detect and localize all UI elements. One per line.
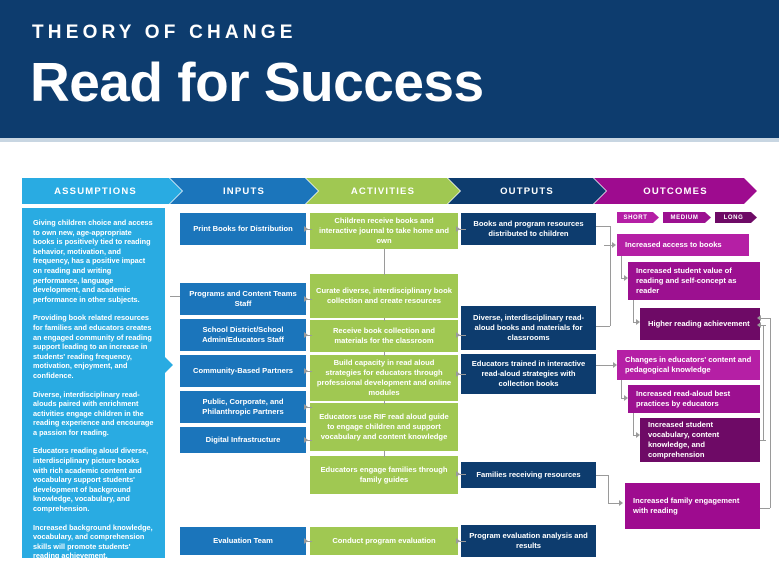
connector-arrow-icon: [624, 395, 628, 401]
output-label: Program evaluation analysis and results: [467, 531, 590, 551]
connector-line: [384, 318, 385, 321]
column-header-label: INPUTS: [223, 186, 265, 197]
page-title: Read for Success: [30, 52, 484, 112]
connector-line: [763, 325, 764, 440]
connector-line: [170, 296, 180, 297]
assumptions-arrow-icon: [160, 352, 173, 378]
output-box: Program evaluation analysis and results: [461, 525, 596, 557]
connector-arrow-icon: [304, 332, 308, 338]
outcome-box: Increased read-aloud best practices by e…: [628, 385, 760, 413]
outcome-tag-label: LONG: [724, 215, 744, 221]
outcome-tag-medium: MEDIUM: [663, 212, 711, 223]
outcome-box: Increased student vocabulary, content kn…: [640, 418, 760, 462]
connector-arrow-icon: [636, 432, 640, 438]
outcome-label: Increased student value of reading and s…: [636, 266, 754, 297]
input-box: Digital Infrastructure: [180, 427, 306, 453]
activity-label: Educators engage families through family…: [316, 465, 452, 485]
connector-arrow-icon: [619, 500, 623, 506]
input-box: Public, Corporate, and Philanthropic Par…: [180, 391, 306, 423]
connector-arrow-icon: [612, 242, 616, 248]
input-box: School District/School Admin/Educators S…: [180, 319, 306, 351]
output-box: Diverse, interdisciplinary read-aloud bo…: [461, 306, 596, 350]
connector-line: [621, 256, 622, 278]
outcome-box: Higher reading achievement: [640, 308, 760, 340]
connector-line: [760, 440, 766, 441]
input-box: Programs and Content Teams Staff: [180, 283, 306, 315]
activity-box: Educators engage families through family…: [310, 456, 458, 494]
column-header-label: ASSUMPTIONS: [54, 186, 137, 197]
input-box: Community-Based Partners: [180, 355, 306, 387]
connector-arrow-icon: [757, 322, 761, 328]
connector-line: [596, 326, 610, 327]
output-label: Families receiving resources: [476, 470, 580, 480]
column-header-assumptions: ASSUMPTIONS: [22, 178, 182, 204]
outcome-tag-label: SHORT: [624, 215, 648, 221]
activity-box: Receive book collection and materials fo…: [310, 320, 458, 352]
connector-arrow-icon: [304, 538, 308, 544]
connector-arrow-icon: [304, 296, 308, 302]
connector-line: [760, 508, 770, 509]
banner-eyebrow: THEORY OF CHANGE: [32, 22, 297, 44]
connector-line: [596, 475, 608, 476]
connector-arrow-icon: [456, 371, 460, 377]
connector-line: [633, 300, 634, 322]
connector-line: [596, 365, 614, 366]
connector-arrow-icon: [624, 275, 628, 281]
assumptions-panel: Giving children choice and access to own…: [22, 208, 165, 558]
connector-line: [384, 249, 385, 275]
input-label: Digital Infrastructure: [206, 435, 281, 445]
connector-line: [384, 451, 385, 457]
connector-arrow-icon: [613, 362, 617, 368]
input-label: Programs and Content Teams Staff: [186, 289, 300, 309]
outcome-box: Changes in educators' content and pedago…: [617, 350, 760, 380]
connector-arrow-icon: [304, 368, 308, 374]
connector-arrow-icon: [456, 332, 460, 338]
outcome-box: Increased student value of reading and s…: [628, 262, 760, 300]
output-box: Books and program resources distributed …: [461, 213, 596, 245]
output-label: Diverse, interdisciplinary read-aloud bo…: [467, 313, 590, 344]
assumption-paragraph: Diverse, interdisciplinary read-alouds p…: [33, 390, 154, 438]
input-label: Print Books for Distribution: [193, 224, 293, 234]
page-banner: THEORY OF CHANGE Read for Success: [0, 0, 779, 138]
column-header-label: ACTIVITIES: [351, 186, 415, 197]
outcome-label: Changes in educators' content and pedago…: [625, 355, 754, 375]
connector-line: [621, 380, 622, 398]
connector-arrow-icon: [456, 471, 460, 477]
output-box: Educators trained in interactive read-al…: [461, 354, 596, 394]
input-label: Public, Corporate, and Philanthropic Par…: [186, 397, 300, 417]
activity-box-conduct-evaluation: Conduct program evaluation: [310, 527, 458, 555]
connector-line: [384, 352, 385, 356]
activity-box: Children receive books and interactive j…: [310, 213, 458, 249]
assumption-paragraph: Providing book related resources for fam…: [33, 313, 154, 380]
column-header-label: OUTPUTS: [500, 186, 554, 197]
activity-label: Build capacity in read aloud strategies …: [316, 358, 452, 399]
connector-arrow-icon: [304, 404, 308, 410]
outcome-label: Higher reading achievement: [648, 319, 750, 329]
output-label: Books and program resources distributed …: [467, 219, 590, 239]
activity-box: Curate diverse, interdisciplinary book c…: [310, 274, 458, 318]
activity-label: Children receive books and interactive j…: [316, 216, 452, 247]
outcome-label: Increased family engagement with reading: [633, 496, 754, 516]
outcome-box: Increased family engagement with reading: [625, 483, 760, 529]
activity-label: Receive book collection and materials fo…: [316, 326, 452, 346]
activity-label: Educators use RIF read aloud guide to en…: [316, 412, 452, 443]
assumption-paragraph: Educators reading aloud diverse, interdi…: [33, 446, 154, 513]
connector-line: [633, 413, 634, 435]
theory-of-change-diagram: THEORY OF CHANGE Read for Success ASSUMP…: [0, 0, 779, 570]
activity-box: Build capacity in read aloud strategies …: [310, 355, 458, 401]
input-label: Evaluation Team: [213, 536, 273, 546]
assumption-paragraph: Giving children choice and access to own…: [33, 218, 154, 304]
output-label: Educators trained in interactive read-al…: [467, 359, 590, 390]
outcome-box: Increased access to books: [617, 234, 749, 256]
output-box: Families receiving resources: [461, 462, 596, 488]
outcome-label: Increased read-aloud best practices by e…: [636, 389, 754, 409]
outcome-tag-long: LONG: [715, 212, 757, 223]
activity-label: Conduct program evaluation: [332, 536, 435, 546]
outcome-tag-short: SHORT: [617, 212, 659, 223]
connector-line: [760, 318, 770, 319]
outcome-label: Increased student vocabulary, content kn…: [648, 420, 754, 461]
column-header-inputs: INPUTS: [170, 178, 318, 204]
connector-arrow-icon: [757, 315, 761, 321]
banner-divider: [0, 138, 779, 142]
column-header-label: OUTCOMES: [643, 186, 708, 197]
connector-arrow-icon: [456, 226, 460, 232]
column-header-outcomes: OUTCOMES: [594, 178, 757, 204]
input-label: Community-Based Partners: [193, 366, 293, 376]
activity-box: Educators use RIF read aloud guide to en…: [310, 403, 458, 451]
connector-line: [770, 318, 771, 508]
connector-line: [608, 475, 609, 503]
input-box: Print Books for Distribution: [180, 213, 306, 245]
connector-line: [384, 401, 385, 404]
column-header-outputs: OUTPUTS: [448, 178, 606, 204]
input-label: School District/School Admin/Educators S…: [186, 325, 300, 345]
connector-line: [610, 226, 611, 326]
connector-arrow-icon: [636, 319, 640, 325]
outcome-tag-label: MEDIUM: [671, 215, 699, 221]
input-box-evaluation-team: Evaluation Team: [180, 527, 306, 555]
connector-arrow-icon: [456, 538, 460, 544]
connector-arrow-icon: [304, 226, 308, 232]
activity-label: Curate diverse, interdisciplinary book c…: [316, 286, 452, 306]
connector-arrow-icon: [304, 437, 308, 443]
connector-line: [596, 226, 610, 227]
outcome-label: Increased access to books: [625, 240, 722, 250]
assumption-paragraph: Increased background knowledge, vocabula…: [33, 523, 154, 561]
column-header-activities: ACTIVITIES: [306, 178, 460, 204]
